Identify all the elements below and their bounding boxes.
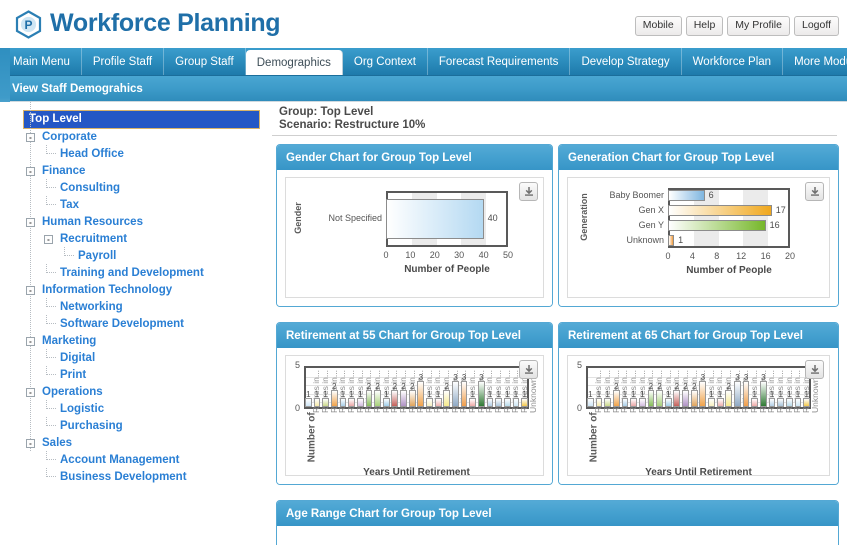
mobile-button[interactable]: Mobile (635, 16, 682, 36)
sidebar-item-operations[interactable]: -Operations (10, 384, 268, 401)
main-navigation-tabs: Main Menu Profile Staff Group Staff Demo… (0, 48, 847, 76)
sidebar-item-label: Training and Development (60, 267, 204, 279)
sidebar-item-sales[interactable]: -Sales (10, 435, 268, 452)
sidebar-item-label: Tax (60, 199, 79, 211)
sidebar-item-label: Sales (42, 437, 72, 449)
sidebar-item-label: Information Technology (42, 284, 172, 296)
tab-org-context[interactable]: Org Context (343, 48, 428, 75)
sidebar-item-label: Account Management (60, 454, 180, 466)
org-tree-sidebar: Top Level -CorporateHead Office-FinanceC… (10, 102, 268, 545)
svg-text:P: P (24, 18, 32, 32)
panel-generation-chart: Generation Chart for Group Top Level Gen… (558, 144, 839, 307)
help-button[interactable]: Help (686, 16, 724, 36)
app-header: P Workforce Planning Mobile Help My Prof… (0, 0, 847, 48)
tree-elbow-connector-icon (46, 349, 56, 358)
sidebar-item-networking[interactable]: Networking (10, 299, 268, 316)
x-axis-title: Number of People (386, 264, 508, 275)
sidebar-item-label: Print (60, 369, 86, 381)
category-label: Gen X (576, 205, 664, 215)
x-axis-title: Years Until Retirement (586, 467, 811, 476)
sidebar-item-recruitment[interactable]: -Recruitment (10, 231, 268, 248)
scenario-line: Scenario: Restructure 10% (279, 119, 837, 132)
org-tree-node-list: -CorporateHead Office-FinanceConsultingT… (10, 129, 268, 486)
panel-title-age-range: Age Range Chart for Group Top Level (277, 501, 838, 526)
tab-demographics[interactable]: Demographics (246, 50, 343, 75)
sidebar-item-information-technology[interactable]: -Information Technology (10, 282, 268, 299)
sidebar-item-label: Corporate (42, 131, 97, 143)
tree-collapse-toggle-icon[interactable]: - (26, 133, 35, 142)
panel-age-range-chart: Age Range Chart for Group Top Level (276, 500, 839, 545)
page-app-title: Workforce Planning (50, 9, 280, 38)
sidebar-item-label: Head Office (60, 148, 124, 160)
y-axis-tick-label: 0 (577, 403, 582, 413)
sidebar-item-corporate[interactable]: -Corporate (10, 129, 268, 146)
sidebar-item-label: Logistic (60, 403, 104, 415)
tree-collapse-toggle-icon[interactable]: - (26, 167, 35, 176)
sidebar-item-label: Operations (42, 386, 103, 398)
sidebar-item-label: Software Development (60, 318, 184, 330)
x-axis-tick-label: 0 (658, 251, 678, 261)
body-area: Top Level -CorporateHead Office-FinanceC… (0, 102, 847, 545)
my-profile-button[interactable]: My Profile (727, 16, 790, 36)
tree-elbow-connector-icon (46, 366, 56, 375)
panel-title-generation: Generation Chart for Group Top Level (559, 145, 838, 170)
category-label: Baby Boomer (576, 190, 664, 200)
sidebar-item-consulting[interactable]: Consulting (10, 180, 268, 197)
x-axis-tick-label: 4 (682, 251, 702, 261)
tab-develop-strategy[interactable]: Develop Strategy (570, 48, 681, 75)
sidebar-item-label: Finance (42, 165, 85, 177)
x-axis-tick-label: 20 (425, 250, 445, 260)
tree-collapse-toggle-icon[interactable]: - (26, 388, 35, 397)
x-axis-tick-label: 50 (498, 250, 518, 260)
tree-collapse-toggle-icon[interactable]: - (26, 218, 35, 227)
panel-title-gender: Gender Chart for Group Top Level (277, 145, 552, 170)
value-label: 6 (709, 190, 714, 200)
sidebar-item-marketing[interactable]: -Marketing (10, 333, 268, 350)
sidebar-item-label: Purchasing (60, 420, 123, 432)
x-axis-tick-label: 16 (756, 251, 776, 261)
category-label: Gen Y (576, 220, 664, 230)
tree-elbow-connector-icon (46, 179, 56, 188)
gender-chart[interactable]: GenderNot Specified4001020304050Number o… (285, 177, 544, 298)
sidebar-item-print[interactable]: Print (10, 367, 268, 384)
sidebar-item-digital[interactable]: Digital (10, 350, 268, 367)
x-axis-title: Number of People (668, 265, 790, 276)
tab-more-modules[interactable]: More Modules (783, 48, 847, 75)
sidebar-item-purchasing[interactable]: Purchasing (10, 418, 268, 435)
panel-gender-chart: Gender Chart for Group Top Level GenderN… (276, 144, 553, 307)
hexagon-p-logo-icon: P (14, 10, 43, 39)
sidebar-item-human-resources[interactable]: -Human Resources (10, 214, 268, 231)
page-title-band: View Staff Demograhics (0, 76, 847, 102)
sidebar-item-label: Human Resources (42, 216, 143, 228)
bar[interactable] (386, 199, 484, 238)
x-axis-title: Years Until Retirement (304, 467, 529, 476)
tab-group-staff[interactable]: Group Staff (164, 48, 246, 75)
sidebar-item-business-development[interactable]: Business Development (10, 469, 268, 486)
logoff-button[interactable]: Logoff (794, 16, 839, 36)
retirement-65-chart[interactable]: Number of People051Retires in...1Retires… (567, 355, 830, 476)
tree-elbow-connector-icon (46, 468, 56, 477)
retirement-55-chart[interactable]: Number of People051Retires in...1Retires… (285, 355, 544, 476)
generation-chart[interactable]: GenerationBaby Boomer6Gen X17Gen Y16Unkn… (567, 177, 830, 298)
bar[interactable] (668, 235, 674, 246)
category-label: Unknown (528, 378, 538, 413)
x-axis-tick-label: 20 (780, 251, 800, 261)
group-scenario-info: Group: Top Level Scenario: Restructure 1… (272, 102, 837, 136)
sidebar-item-label: Business Development (60, 471, 187, 483)
bar[interactable] (668, 220, 766, 231)
y-axis-tick-label: 0 (295, 403, 300, 413)
sidebar-item-logistic[interactable]: Logistic (10, 401, 268, 418)
sidebar-item-head-office[interactable]: Head Office (10, 146, 268, 163)
download-icon[interactable] (805, 360, 824, 379)
bar[interactable] (604, 398, 611, 407)
tree-elbow-connector-icon (46, 298, 56, 307)
panel-title-retirement-65: Retirement at 65 Chart for Group Top Lev… (559, 323, 838, 348)
tree-collapse-toggle-icon[interactable]: - (26, 286, 35, 295)
value-label: 17 (776, 205, 786, 215)
value-label: 16 (770, 220, 780, 230)
bar[interactable] (630, 398, 637, 407)
panel-retirement-65-chart: Retirement at 65 Chart for Group Top Lev… (558, 322, 839, 485)
sidebar-item-account-management[interactable]: Account Management (10, 452, 268, 469)
sidebar-item-label: Marketing (42, 335, 96, 347)
sidebar-item-label: Recruitment (60, 233, 127, 245)
bar[interactable] (400, 390, 407, 407)
tab-profile-staff[interactable]: Profile Staff (82, 48, 164, 75)
y-axis-tick-label: 5 (577, 360, 582, 370)
category-label: Unknown (576, 235, 664, 245)
tree-elbow-connector-icon (46, 451, 56, 460)
value-label: 40 (488, 213, 498, 223)
tree-collapse-toggle-icon[interactable]: - (44, 235, 53, 244)
x-axis-tick-label: 10 (400, 250, 420, 260)
sidebar-item-label: Digital (60, 352, 95, 364)
panel-title-retirement-55: Retirement at 55 Chart for Group Top Lev… (277, 323, 552, 348)
value-label: 1 (678, 235, 683, 245)
tree-elbow-connector-icon (64, 247, 74, 256)
category-label: Not Specified (294, 213, 382, 223)
download-icon[interactable] (805, 182, 824, 201)
tab-main-menu[interactable]: Main Menu (2, 48, 82, 75)
tab-forecast-requirements[interactable]: Forecast Requirements (428, 48, 571, 75)
group-line: Group: Top Level (279, 106, 837, 119)
sidebar-item-tax[interactable]: Tax (10, 197, 268, 214)
x-axis-tick-label: 12 (731, 251, 751, 261)
bar[interactable] (322, 398, 329, 407)
tree-elbow-connector-icon (46, 196, 56, 205)
download-icon[interactable] (519, 182, 538, 201)
sidebar-item-label: Consulting (60, 182, 120, 194)
header-button-group: Mobile Help My Profile Logoff (635, 16, 839, 36)
tree-collapse-toggle-icon[interactable]: - (26, 439, 35, 448)
tab-workforce-plan[interactable]: Workforce Plan (682, 48, 783, 75)
sidebar-item-software-development[interactable]: Software Development (10, 316, 268, 333)
category-label: Unknown (810, 378, 820, 413)
tree-elbow-connector-icon (46, 315, 56, 324)
x-axis-tick-label: 0 (376, 250, 396, 260)
sidebar-item-label: Payroll (78, 250, 116, 262)
bar[interactable] (668, 205, 772, 216)
download-icon[interactable] (519, 360, 538, 379)
tree-elbow-connector-icon (46, 145, 56, 154)
sidebar-item-label: Networking (60, 301, 123, 313)
x-axis-tick-label: 40 (474, 250, 494, 260)
tree-collapse-toggle-icon[interactable]: - (26, 337, 35, 346)
y-axis-tick-label: 5 (295, 360, 300, 370)
sidebar-item-top-level[interactable]: Top Level (23, 110, 260, 129)
page-title: View Staff Demograhics (10, 83, 143, 95)
bar[interactable] (348, 398, 355, 407)
sidebar-item-finance[interactable]: -Finance (10, 163, 268, 180)
panel-retirement-55-chart: Retirement at 55 Chart for Group Top Lev… (276, 322, 553, 485)
sidebar-item-training-and-development[interactable]: Training and Development (10, 265, 268, 282)
tree-elbow-connector-icon (46, 417, 56, 426)
x-axis-tick-label: 30 (449, 250, 469, 260)
tree-elbow-connector-icon (46, 264, 56, 273)
bar[interactable] (682, 390, 689, 407)
x-axis-tick-label: 8 (707, 251, 727, 261)
sidebar-item-payroll[interactable]: Payroll (10, 248, 268, 265)
grid-band (743, 190, 767, 246)
bar[interactable] (668, 190, 705, 201)
tree-elbow-connector-icon (46, 400, 56, 409)
main-content: Group: Top Level Scenario: Restructure 1… (272, 102, 843, 545)
